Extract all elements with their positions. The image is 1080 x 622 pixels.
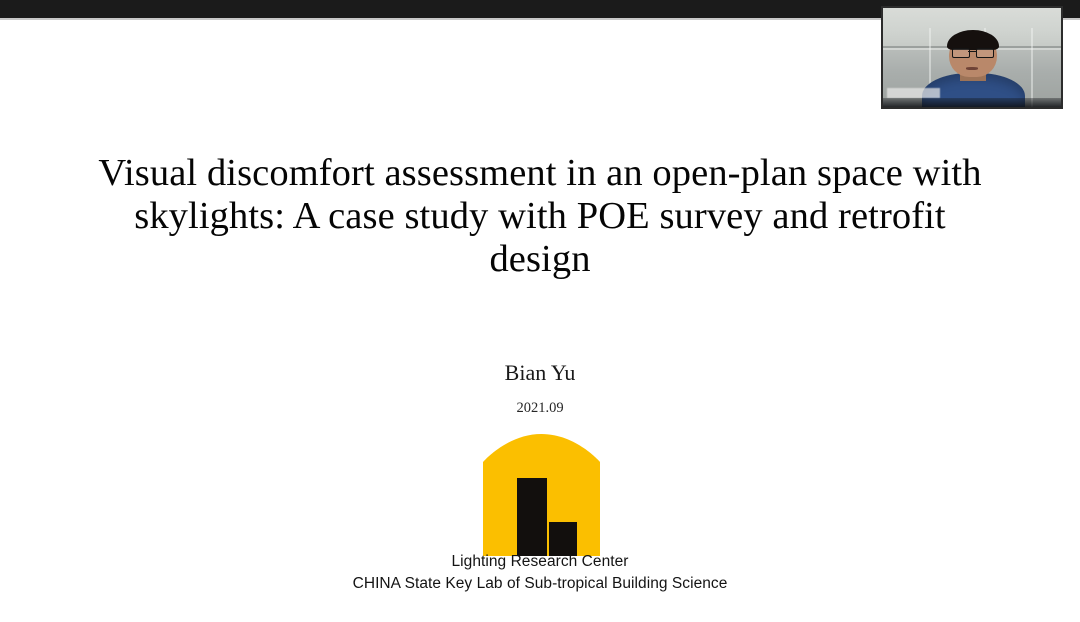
presenter-glasses-left-lens <box>952 48 970 57</box>
video-bottom-shadow <box>883 98 1061 107</box>
slide-title: Visual discomfort assessment in an open-… <box>90 152 990 281</box>
video-background-object <box>887 88 940 98</box>
affiliation-line-1: Lighting Research Center <box>200 551 880 573</box>
presenter-glasses-bridge <box>968 51 976 52</box>
author-name: Bian Yu <box>240 360 840 386</box>
screen-share-view: Visual discomfort assessment in an open-… <box>0 0 1080 622</box>
presenter-mouth <box>966 67 978 69</box>
presenter-video-tile[interactable] <box>881 6 1063 109</box>
affiliation-line-2: CHINA State Key Lab of Sub-tropical Buil… <box>200 573 880 595</box>
lighting-research-center-logo-icon <box>483 434 600 556</box>
video-panel-edge <box>1031 28 1033 107</box>
presentation-slide: Visual discomfort assessment in an open-… <box>0 20 1080 622</box>
presentation-date: 2021.09 <box>240 399 840 417</box>
affiliation-block: Lighting Research Center CHINA State Key… <box>200 551 880 595</box>
presenter-glasses-right-lens <box>976 48 994 57</box>
